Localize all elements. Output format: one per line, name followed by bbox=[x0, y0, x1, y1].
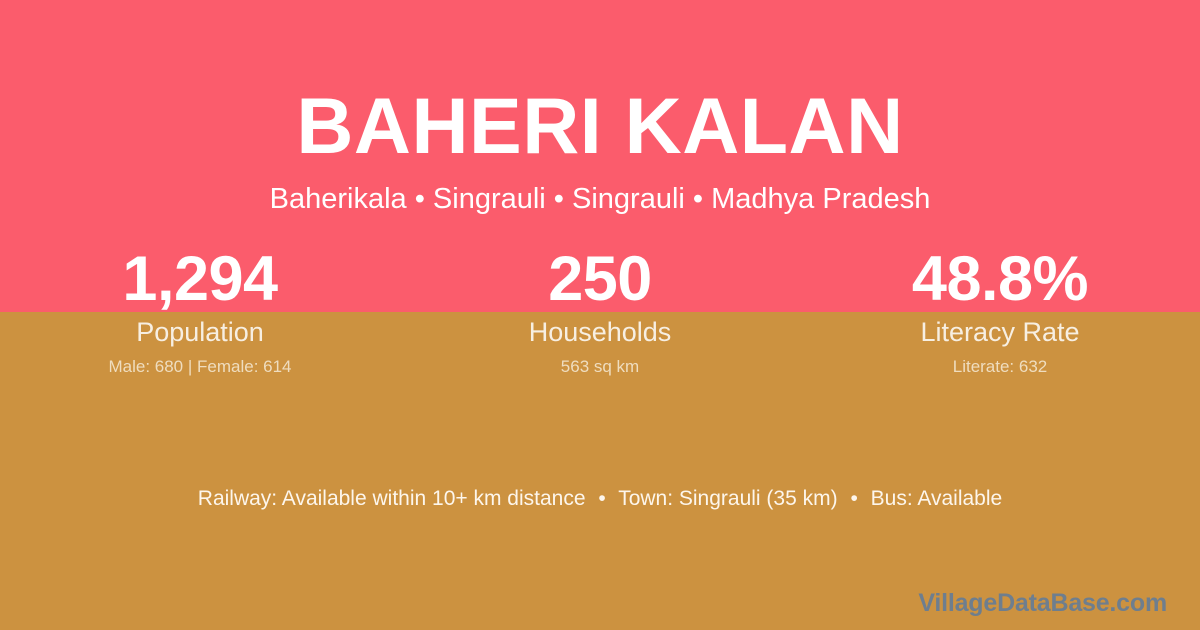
site-branding: VillageDataBase.com bbox=[918, 588, 1167, 618]
stat-label: Literacy Rate bbox=[800, 316, 1200, 348]
bullet-separator-icon: • bbox=[591, 484, 612, 514]
railway-info: Railway: Available within 10+ km distanc… bbox=[198, 487, 586, 510]
village-info-card: BAHERI KALAN Baherikala • Singrauli • Si… bbox=[0, 0, 1200, 630]
stat-population: 1,294 Population Male: 680 | Female: 614 bbox=[0, 244, 400, 378]
page-title: BAHERI KALAN bbox=[0, 78, 1200, 174]
stats-row: 1,294 Population Male: 680 | Female: 614… bbox=[0, 244, 1200, 378]
stat-value: 48.8% bbox=[800, 244, 1200, 314]
bus-info: Bus: Available bbox=[871, 487, 1003, 510]
stat-literacy-rate: 48.8% Literacy Rate Literate: 632 bbox=[800, 244, 1200, 378]
stat-value: 1,294 bbox=[0, 244, 400, 314]
stat-sublabel: Literate: 632 bbox=[800, 356, 1200, 378]
stat-households: 250 Households 563 sq km bbox=[400, 244, 800, 378]
stat-label: Population bbox=[0, 316, 400, 348]
stat-value: 250 bbox=[400, 244, 800, 314]
stat-sublabel: 563 sq km bbox=[400, 356, 800, 378]
stat-label: Households bbox=[400, 316, 800, 348]
breadcrumb: Baherikala • Singrauli • Singrauli • Mad… bbox=[0, 180, 1200, 218]
town-info: Town: Singrauli (35 km) bbox=[618, 487, 837, 510]
transit-info-line: Railway: Available within 10+ km distanc… bbox=[0, 484, 1200, 514]
stat-sublabel: Male: 680 | Female: 614 bbox=[0, 356, 400, 378]
bullet-separator-icon: • bbox=[843, 484, 864, 514]
